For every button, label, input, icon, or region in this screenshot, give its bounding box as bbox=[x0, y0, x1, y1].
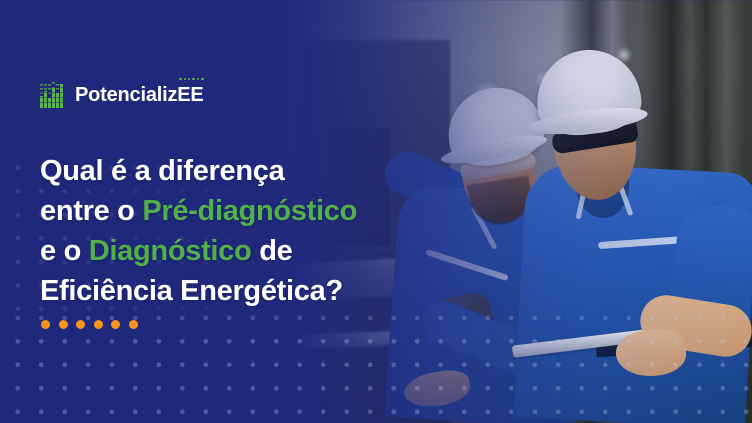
orange-dot bbox=[59, 320, 68, 329]
orange-dot bbox=[111, 320, 120, 329]
headline-line-2-prefix: entre o bbox=[40, 195, 142, 227]
headline-line-3-prefix: e o bbox=[40, 235, 89, 267]
orange-dot bbox=[76, 320, 85, 329]
orange-dot-decoration bbox=[41, 320, 138, 329]
brand-name: PotencializEE bbox=[75, 85, 204, 105]
page-title: Qual é a diferença entre o Pré-diagnósti… bbox=[40, 151, 460, 311]
headline-highlight-pre-diagnostico: Pré-diagnóstico bbox=[142, 195, 357, 227]
orange-dot bbox=[41, 320, 50, 329]
logo-dot-accents bbox=[179, 78, 203, 80]
headline-highlight-diagnostico: Diagnóstico bbox=[89, 235, 252, 267]
headline-line-2: entre o Pré-diagnóstico bbox=[40, 191, 460, 231]
headline-line-4-text: Eficiência Energética? bbox=[40, 275, 343, 307]
brand-logo[interactable]: PotencializEE bbox=[40, 82, 204, 108]
headline-line-1: Qual é a diferença bbox=[40, 151, 460, 191]
orange-dot bbox=[94, 320, 103, 329]
brand-name-text: PotencializEE bbox=[75, 84, 204, 106]
orange-dot bbox=[129, 320, 138, 329]
bar-chart-grid-icon bbox=[40, 82, 66, 108]
headline-line-3: e o Diagnóstico de bbox=[40, 231, 460, 271]
promo-banner: PotencializEE Qual é a diferença entre o… bbox=[0, 0, 752, 423]
headline-line-1-text: Qual é a diferença bbox=[40, 155, 284, 187]
banner-content: PotencializEE Qual é a diferença entre o… bbox=[40, 0, 470, 423]
headline-line-4: Eficiência Energética? bbox=[40, 271, 460, 311]
headline-line-3-suffix: de bbox=[251, 235, 292, 267]
